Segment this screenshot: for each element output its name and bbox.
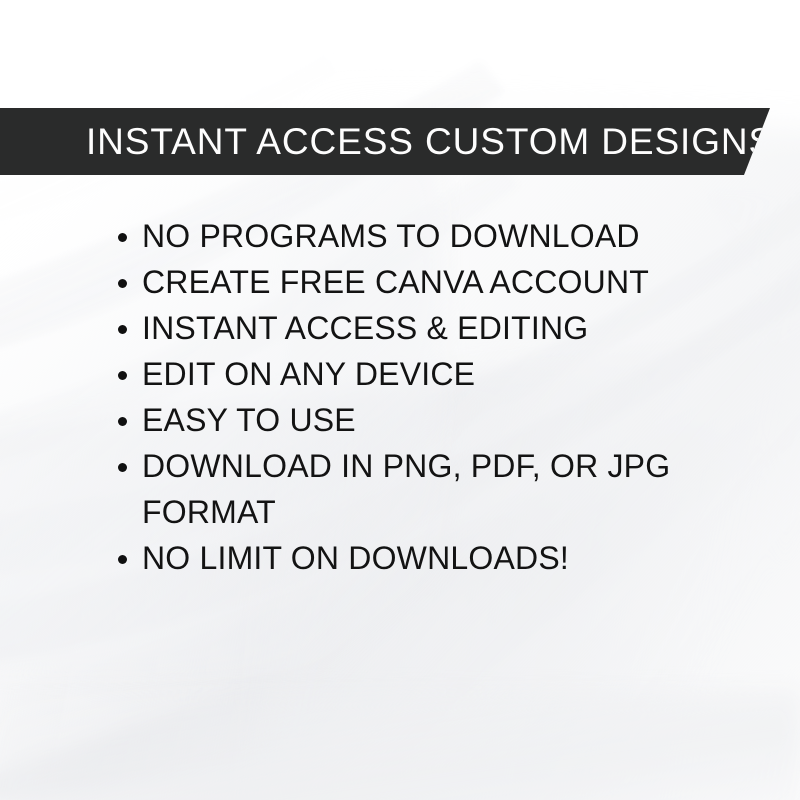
list-item-label: EDIT ON ANY DEVICE bbox=[142, 351, 732, 397]
list-item: CREATE FREE CANVA ACCOUNT bbox=[112, 259, 732, 305]
list-item: INSTANT ACCESS & EDITING bbox=[112, 305, 732, 351]
header-banner: INSTANT ACCESS CUSTOM DESIGNS bbox=[0, 108, 770, 175]
list-item: NO PROGRAMS TO DOWNLOAD bbox=[112, 213, 732, 259]
page-title: INSTANT ACCESS CUSTOM DESIGNS bbox=[86, 108, 774, 175]
list-item-label: DOWNLOAD IN PNG, PDF, OR JPG FORMAT bbox=[142, 443, 732, 535]
bullet-icon bbox=[118, 417, 127, 426]
bullet-icon bbox=[118, 371, 127, 380]
bullet-icon bbox=[118, 555, 127, 564]
bullet-icon bbox=[118, 279, 127, 288]
list-item: DOWNLOAD IN PNG, PDF, OR JPG FORMAT bbox=[112, 443, 732, 535]
bullet-icon bbox=[118, 463, 127, 472]
list-item: NO LIMIT ON DOWNLOADS! bbox=[112, 535, 732, 581]
list-item-label: CREATE FREE CANVA ACCOUNT bbox=[142, 259, 732, 305]
list-item-label: NO PROGRAMS TO DOWNLOAD bbox=[142, 213, 732, 259]
list-item-label: NO LIMIT ON DOWNLOADS! bbox=[142, 535, 732, 581]
poster-canvas: INSTANT ACCESS CUSTOM DESIGNS NO PROGRAM… bbox=[0, 0, 800, 800]
bullet-icon bbox=[118, 325, 127, 334]
list-item: EDIT ON ANY DEVICE bbox=[112, 351, 732, 397]
list-item: EASY TO USE bbox=[112, 397, 732, 443]
background-wash-bottom bbox=[0, 690, 800, 800]
bullet-icon bbox=[118, 233, 127, 242]
feature-list: NO PROGRAMS TO DOWNLOAD CREATE FREE CANV… bbox=[112, 213, 732, 581]
list-item-label: INSTANT ACCESS & EDITING bbox=[142, 305, 732, 351]
list-item-label: EASY TO USE bbox=[142, 397, 732, 443]
